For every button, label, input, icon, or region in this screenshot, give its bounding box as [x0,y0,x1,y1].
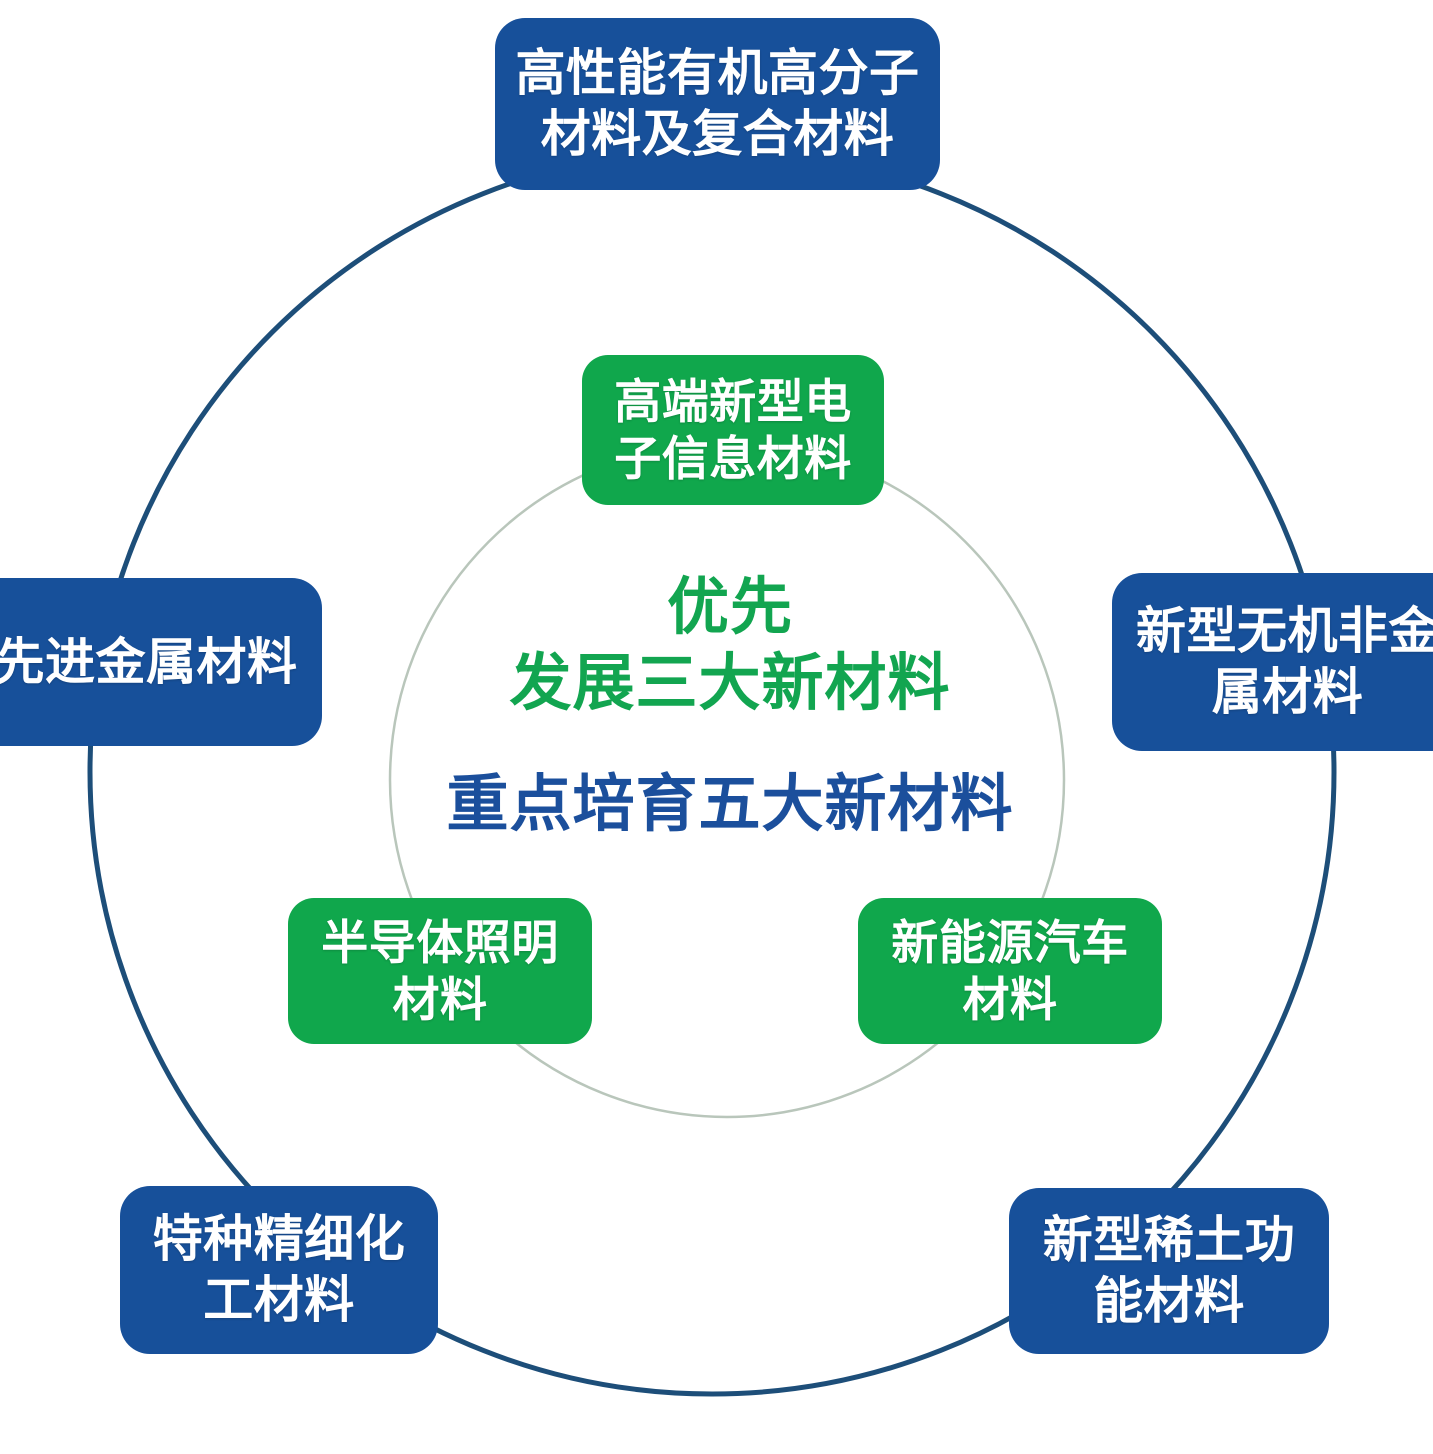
inner-node-label: 半导体照明材料 [302,914,578,1029]
inner-node-label: 新能源汽车材料 [872,914,1148,1029]
outer-node-organic-polymer-composite[interactable]: 高性能有机高分子材料及复合材料 [495,18,940,190]
outer-node-advanced-metal[interactable]: 先进金属材料 [0,578,322,746]
outer-node-new-rare-earth-functional[interactable]: 新型稀土功能材料 [1009,1188,1329,1354]
outer-node-special-fine-chemical[interactable]: 特种精细化工材料 [120,1186,438,1354]
center-secondary-label: 重点培育五大新材料 [400,767,1060,843]
inner-node-electronic-information[interactable]: 高端新型电子信息材料 [582,355,884,505]
center-primary-label: 优先 发展三大新材料 [400,570,1060,721]
inner-node-label: 高端新型电子信息材料 [596,373,870,488]
outer-node-label: 先进金属材料 [0,632,298,693]
inner-node-new-energy-vehicle[interactable]: 新能源汽车材料 [858,898,1162,1044]
center-text-block: 优先 发展三大新材料 重点培育五大新材料 [400,570,1060,843]
outer-node-label: 特种精细化工材料 [134,1209,424,1331]
outer-node-label: 新型稀土功能材料 [1023,1210,1315,1332]
diagram-canvas: 高性能有机高分子材料及复合材料 先进金属材料 新型无机非金属材料 特种精细化工材… [0,0,1433,1454]
outer-node-label: 高性能有机高分子材料及复合材料 [509,43,926,165]
outer-node-new-inorganic-nonmetal[interactable]: 新型无机非金属材料 [1112,573,1433,751]
inner-node-semiconductor-lighting[interactable]: 半导体照明材料 [288,898,592,1044]
outer-node-label: 新型无机非金属材料 [1126,601,1433,723]
